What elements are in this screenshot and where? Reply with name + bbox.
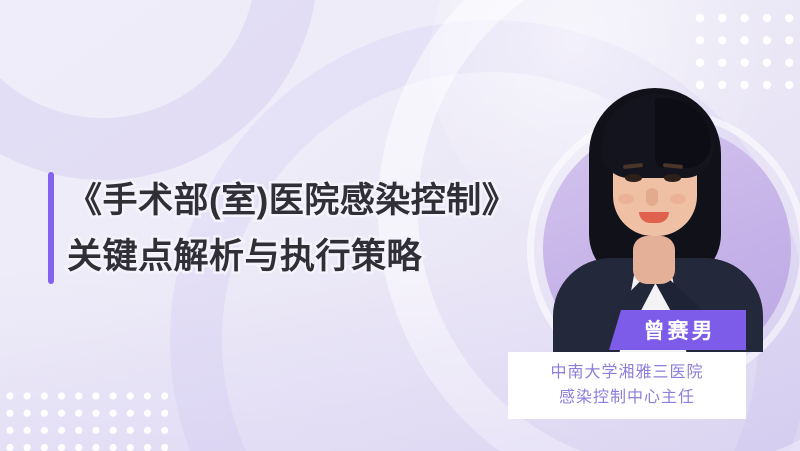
title-block: 《手术部(室)医院感染控制》 关键点解析与执行策略 xyxy=(48,172,517,284)
speaker-affiliation-line-1: 中南大学湘雅三医院 xyxy=(550,361,703,386)
speaker-affiliation-panel: 中南大学湘雅三医院 感染控制中心主任 xyxy=(508,352,746,419)
course-cover-poster: 《手术部(室)医院感染控制》 关键点解析与执行策略 曾赛男 中南大学湘雅三医院 … xyxy=(0,0,800,451)
photo-neck xyxy=(633,236,675,284)
speaker-affiliation-line-2: 感染控制中心主任 xyxy=(559,386,695,411)
title-lines: 《手术部(室)医院感染控制》 关键点解析与执行策略 xyxy=(67,172,517,284)
photo-cheek-left xyxy=(618,194,634,204)
photo-eye-right xyxy=(664,174,681,182)
photo-eye-left xyxy=(625,174,642,182)
photo-cheek-right xyxy=(670,194,686,204)
accent-bar-decor-icon xyxy=(48,172,54,284)
photo-nose xyxy=(646,188,658,206)
page-title-line-2: 关键点解析与执行策略 xyxy=(67,239,517,274)
speaker-name-badge: 曾赛男 xyxy=(609,310,746,350)
dot-grid-bottom-left-icon xyxy=(2,388,178,451)
page-title-line-1: 《手术部(室)医院感染控制》 xyxy=(67,183,517,218)
speaker-name-label: 曾赛男 xyxy=(640,315,716,345)
